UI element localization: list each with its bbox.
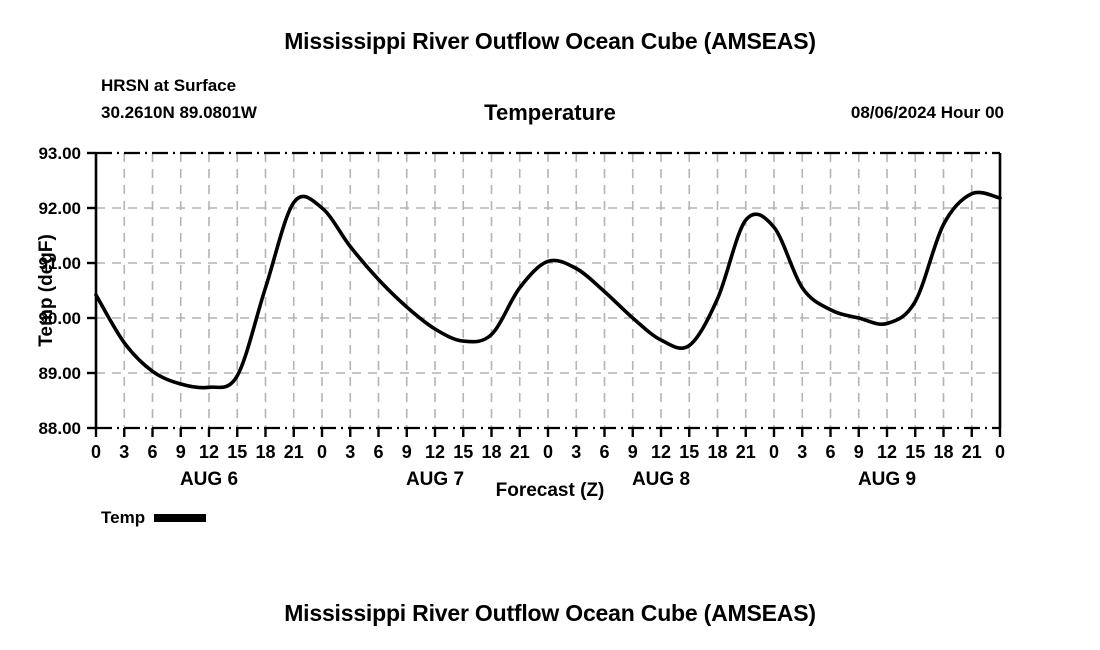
- svg-text:3: 3: [797, 442, 807, 462]
- y-tick-labels: 88.0089.0090.0091.0092.0093.00: [38, 144, 81, 438]
- chart-legend: Temp: [101, 508, 206, 528]
- svg-text:3: 3: [571, 442, 581, 462]
- chart-canvas: 88.0089.0090.0091.0092.0093.00 036912151…: [0, 0, 1100, 650]
- svg-text:21: 21: [962, 442, 982, 462]
- x-tick-labels: 0369121518210369121518210369121518210369…: [91, 442, 1005, 462]
- footer-title: Mississippi River Outflow Ocean Cube (AM…: [0, 600, 1100, 627]
- svg-text:21: 21: [510, 442, 530, 462]
- svg-text:9: 9: [402, 442, 412, 462]
- svg-text:15: 15: [453, 442, 473, 462]
- svg-text:3: 3: [119, 442, 129, 462]
- svg-text:91.00: 91.00: [38, 254, 81, 273]
- svg-text:6: 6: [147, 442, 157, 462]
- svg-text:18: 18: [707, 442, 727, 462]
- svg-text:12: 12: [425, 442, 445, 462]
- axis-ticks: [87, 153, 1000, 437]
- plot-frame: [96, 153, 1000, 428]
- plot-area: 88.0089.0090.0091.0092.0093.00 036912151…: [0, 0, 1100, 650]
- legend-label-temp: Temp: [101, 508, 145, 528]
- svg-text:12: 12: [877, 442, 897, 462]
- svg-text:6: 6: [599, 442, 609, 462]
- svg-text:0: 0: [543, 442, 553, 462]
- svg-text:12: 12: [651, 442, 671, 462]
- svg-text:18: 18: [481, 442, 501, 462]
- svg-text:12: 12: [199, 442, 219, 462]
- svg-text:6: 6: [825, 442, 835, 462]
- svg-text:15: 15: [905, 442, 925, 462]
- svg-text:93.00: 93.00: [38, 144, 81, 163]
- svg-text:9: 9: [628, 442, 638, 462]
- svg-text:9: 9: [176, 442, 186, 462]
- svg-text:0: 0: [91, 442, 101, 462]
- legend-swatch-temp: [154, 514, 206, 522]
- x-axis-title: Forecast (Z): [0, 480, 1100, 502]
- svg-text:18: 18: [255, 442, 275, 462]
- chart-page: Mississippi River Outflow Ocean Cube (AM…: [0, 0, 1100, 650]
- svg-text:21: 21: [736, 442, 756, 462]
- svg-text:92.00: 92.00: [38, 199, 81, 218]
- svg-text:15: 15: [679, 442, 699, 462]
- svg-text:90.00: 90.00: [38, 309, 81, 328]
- svg-text:9: 9: [854, 442, 864, 462]
- svg-text:89.00: 89.00: [38, 364, 81, 383]
- grid-lines: [96, 153, 1000, 428]
- svg-text:0: 0: [769, 442, 779, 462]
- svg-text:3: 3: [345, 442, 355, 462]
- svg-text:0: 0: [317, 442, 327, 462]
- svg-text:0: 0: [995, 442, 1005, 462]
- svg-text:21: 21: [284, 442, 304, 462]
- svg-text:6: 6: [373, 442, 383, 462]
- svg-text:18: 18: [933, 442, 953, 462]
- svg-text:88.00: 88.00: [38, 419, 81, 438]
- svg-text:15: 15: [227, 442, 247, 462]
